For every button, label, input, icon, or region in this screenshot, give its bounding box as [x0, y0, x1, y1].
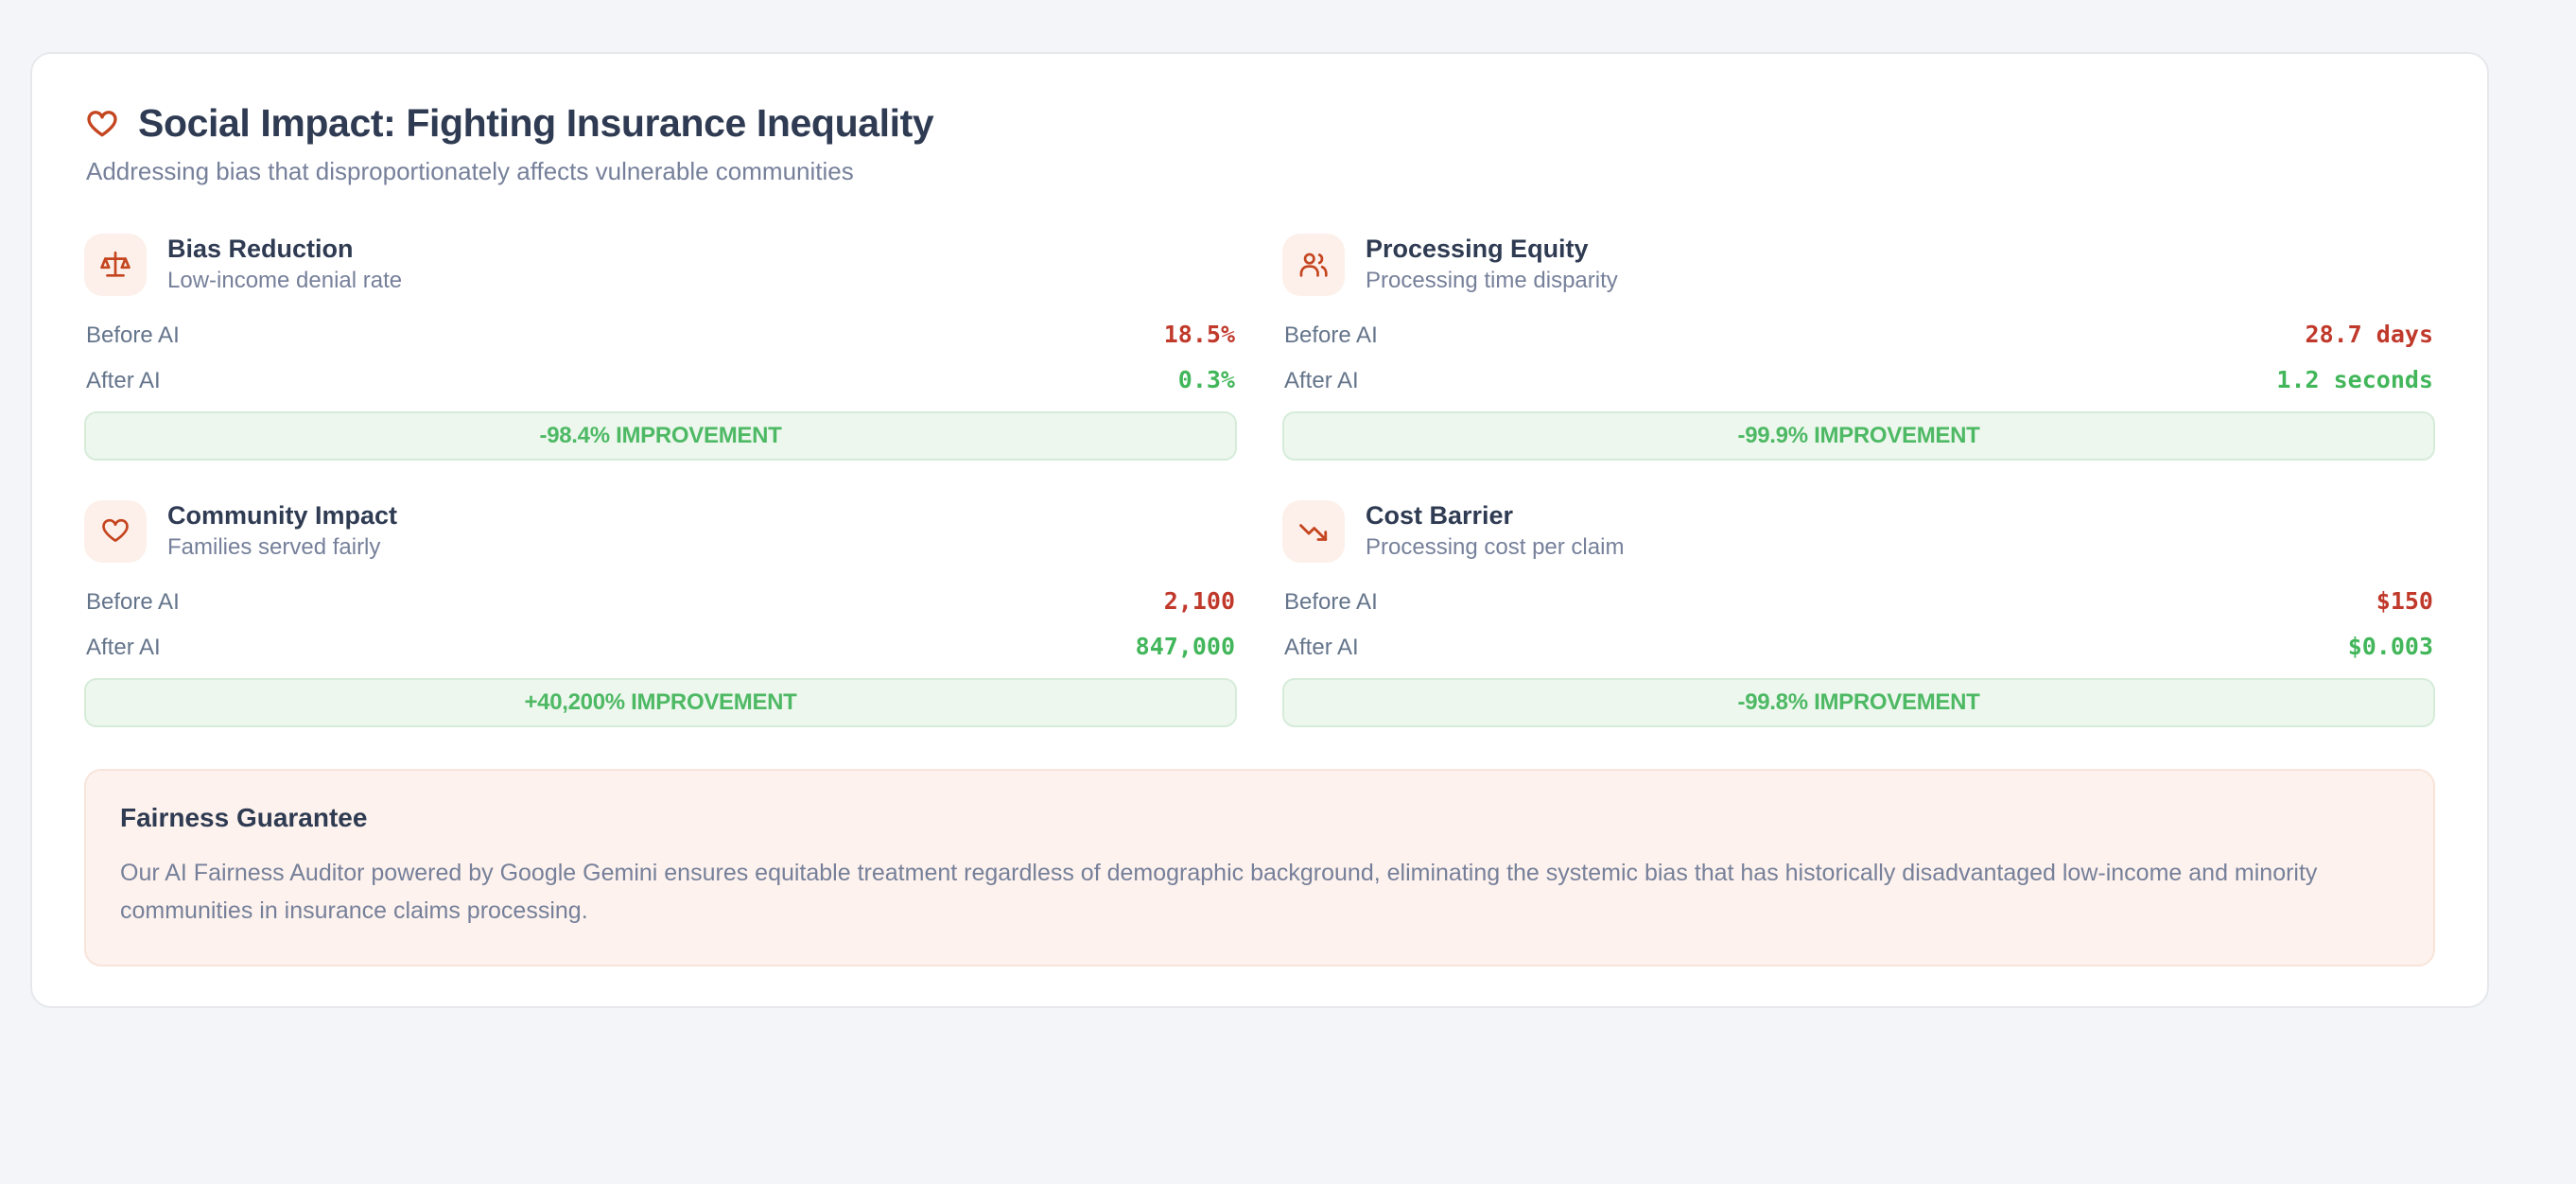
page-root: Social Impact: Fighting Insurance Inequa…	[0, 0, 2576, 1184]
improvement-label: -99.9% IMPROVEMENT	[1738, 423, 1980, 449]
metric-header: Processing Equity Processing time dispar…	[1282, 234, 2435, 296]
page-subtitle: Addressing bias that disproportionately …	[86, 156, 2435, 188]
improvement-label: -99.8% IMPROVEMENT	[1738, 689, 1980, 716]
metric-row-before: Before AI 18.5%	[84, 321, 1237, 349]
trending-down-icon	[1282, 500, 1345, 563]
before-label: Before AI	[1284, 589, 1378, 616]
after-label: After AI	[86, 368, 161, 394]
metric-row-after: After AI $0.003	[1282, 633, 2435, 661]
metric-row-before: Before AI 2,100	[84, 587, 1237, 616]
page-title: Social Impact: Fighting Insurance Inequa…	[138, 103, 933, 144]
fairness-guarantee-panel: Fairness Guarantee Our AI Fairness Audit…	[84, 769, 2435, 966]
improvement-badge: -99.9% IMPROVEMENT	[1282, 411, 2435, 461]
before-value: 2,100	[1164, 587, 1235, 615]
metric-row-after: After AI 0.3%	[84, 366, 1237, 394]
metric-header: Bias Reduction Low-income denial rate	[84, 234, 1237, 296]
after-value: $0.003	[2348, 633, 2433, 660]
improvement-label: -98.4% IMPROVEMENT	[540, 423, 782, 449]
users-icon	[1282, 234, 1345, 296]
metric-description: Families served fairly	[167, 535, 397, 560]
metric-row-after: After AI 1.2 seconds	[1282, 366, 2435, 394]
after-label: After AI	[1284, 368, 1359, 394]
metric-card-bias-reduction: Bias Reduction Low-income denial rate Be…	[84, 232, 1237, 461]
metric-title: Community Impact	[167, 502, 397, 531]
metric-row-before: Before AI 28.7 days	[1282, 321, 2435, 349]
metric-title: Cost Barrier	[1366, 502, 1624, 531]
scales-icon	[84, 234, 147, 296]
after-label: After AI	[86, 635, 161, 661]
before-value: 18.5%	[1164, 321, 1235, 348]
before-label: Before AI	[86, 322, 180, 349]
before-label: Before AI	[86, 589, 180, 616]
improvement-label: +40,200% IMPROVEMENT	[524, 689, 796, 716]
metric-row-before: Before AI $150	[1282, 587, 2435, 616]
metric-header: Community Impact Families served fairly	[84, 500, 1237, 563]
metric-title: Bias Reduction	[167, 235, 402, 264]
social-impact-card: Social Impact: Fighting Insurance Inequa…	[30, 52, 2489, 1008]
before-label: Before AI	[1284, 322, 1378, 349]
heart-icon	[84, 105, 120, 143]
metric-grid: Bias Reduction Low-income denial rate Be…	[84, 232, 2435, 727]
heart-icon	[84, 500, 147, 563]
before-value: 28.7 days	[2306, 321, 2433, 348]
metric-description: Processing cost per claim	[1366, 535, 1624, 560]
metric-title: Processing Equity	[1366, 235, 1618, 264]
before-value: $150	[2376, 587, 2433, 615]
improvement-badge: +40,200% IMPROVEMENT	[84, 678, 1237, 727]
after-value: 1.2 seconds	[2276, 366, 2433, 393]
improvement-badge: -99.8% IMPROVEMENT	[1282, 678, 2435, 727]
metric-description: Processing time disparity	[1366, 269, 1618, 293]
metric-card-cost-barrier: Cost Barrier Processing cost per claim B…	[1282, 498, 2435, 727]
card-header: Social Impact: Fighting Insurance Inequa…	[84, 103, 2435, 144]
after-value: 0.3%	[1178, 366, 1235, 393]
after-value: 847,000	[1136, 633, 1235, 660]
metric-card-processing-equity: Processing Equity Processing time dispar…	[1282, 232, 2435, 461]
metric-header: Cost Barrier Processing cost per claim	[1282, 500, 2435, 563]
metric-card-community-impact: Community Impact Families served fairly …	[84, 498, 1237, 727]
fairness-body: Our AI Fairness Auditor powered by Googl…	[120, 854, 2399, 931]
after-label: After AI	[1284, 635, 1359, 661]
improvement-badge: -98.4% IMPROVEMENT	[84, 411, 1237, 461]
fairness-title: Fairness Guarantee	[120, 803, 2399, 833]
metric-row-after: After AI 847,000	[84, 633, 1237, 661]
metric-description: Low-income denial rate	[167, 269, 402, 293]
